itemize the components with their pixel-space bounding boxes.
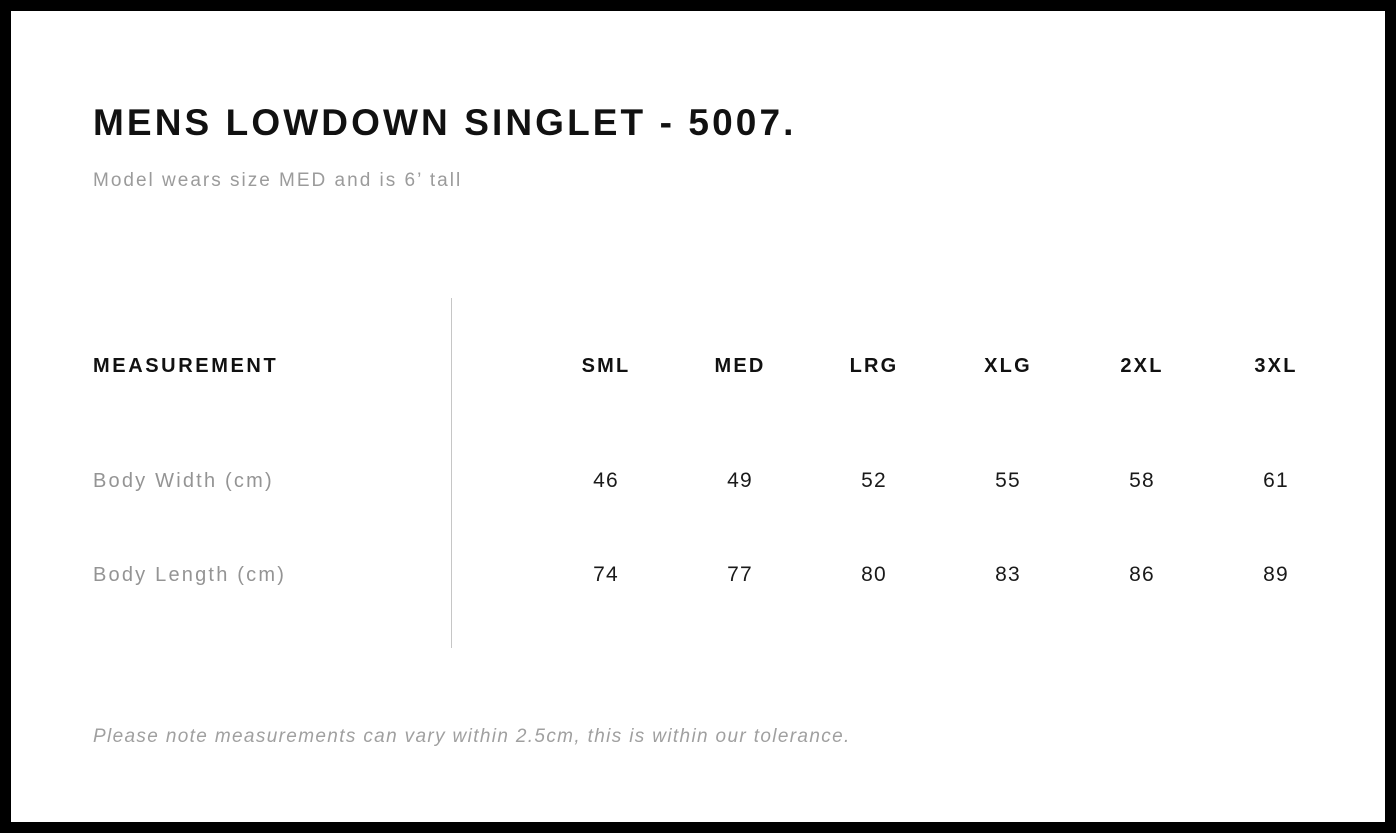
- cell-body-width-2xl: 58: [1075, 434, 1209, 528]
- table-header-row: MEASUREMENT SML MED LRG XLG 2XL 3XL: [93, 298, 1343, 434]
- cell-body-width-xlg: 55: [941, 434, 1075, 528]
- size-table: MEASUREMENT SML MED LRG XLG 2XL 3XL Body…: [93, 298, 1343, 622]
- cell-body-length-xlg: 83: [941, 528, 1075, 622]
- cell-body-length-med: 77: [673, 528, 807, 622]
- row-label-body-width: Body Width (cm): [93, 434, 539, 528]
- tolerance-note: Please note measurements can vary within…: [93, 726, 851, 748]
- size-table-container: MEASUREMENT SML MED LRG XLG 2XL 3XL Body…: [93, 298, 1343, 622]
- header: MENS LOWDOWN SINGLET - 5007. Model wears…: [93, 103, 1345, 193]
- cell-body-length-sml: 74: [539, 528, 673, 622]
- model-info-subtitle: Model wears size MED and is 6’ tall: [93, 143, 1345, 193]
- table-row: Body Width (cm) 46 49 52 55 58 61: [93, 434, 1343, 528]
- cell-body-width-lrg: 52: [807, 434, 941, 528]
- cell-body-width-3xl: 61: [1209, 434, 1343, 528]
- cell-body-width-sml: 46: [539, 434, 673, 528]
- cell-body-width-med: 49: [673, 434, 807, 528]
- size-chart-card: MENS LOWDOWN SINGLET - 5007. Model wears…: [11, 11, 1385, 822]
- header-size-med: MED: [673, 298, 807, 434]
- column-divider: [451, 298, 452, 648]
- page-title: MENS LOWDOWN SINGLET - 5007.: [93, 103, 1345, 143]
- header-size-3xl: 3XL: [1209, 298, 1343, 434]
- cell-body-length-2xl: 86: [1075, 528, 1209, 622]
- header-size-xlg: XLG: [941, 298, 1075, 434]
- cell-body-length-3xl: 89: [1209, 528, 1343, 622]
- size-chart-page: MENS LOWDOWN SINGLET - 5007. Model wears…: [0, 0, 1396, 833]
- header-measurement: MEASUREMENT: [93, 298, 539, 434]
- header-size-sml: SML: [539, 298, 673, 434]
- header-size-2xl: 2XL: [1075, 298, 1209, 434]
- row-label-body-length: Body Length (cm): [93, 528, 539, 622]
- table-row: Body Length (cm) 74 77 80 83 86 89: [93, 528, 1343, 622]
- cell-body-length-lrg: 80: [807, 528, 941, 622]
- header-size-lrg: LRG: [807, 298, 941, 434]
